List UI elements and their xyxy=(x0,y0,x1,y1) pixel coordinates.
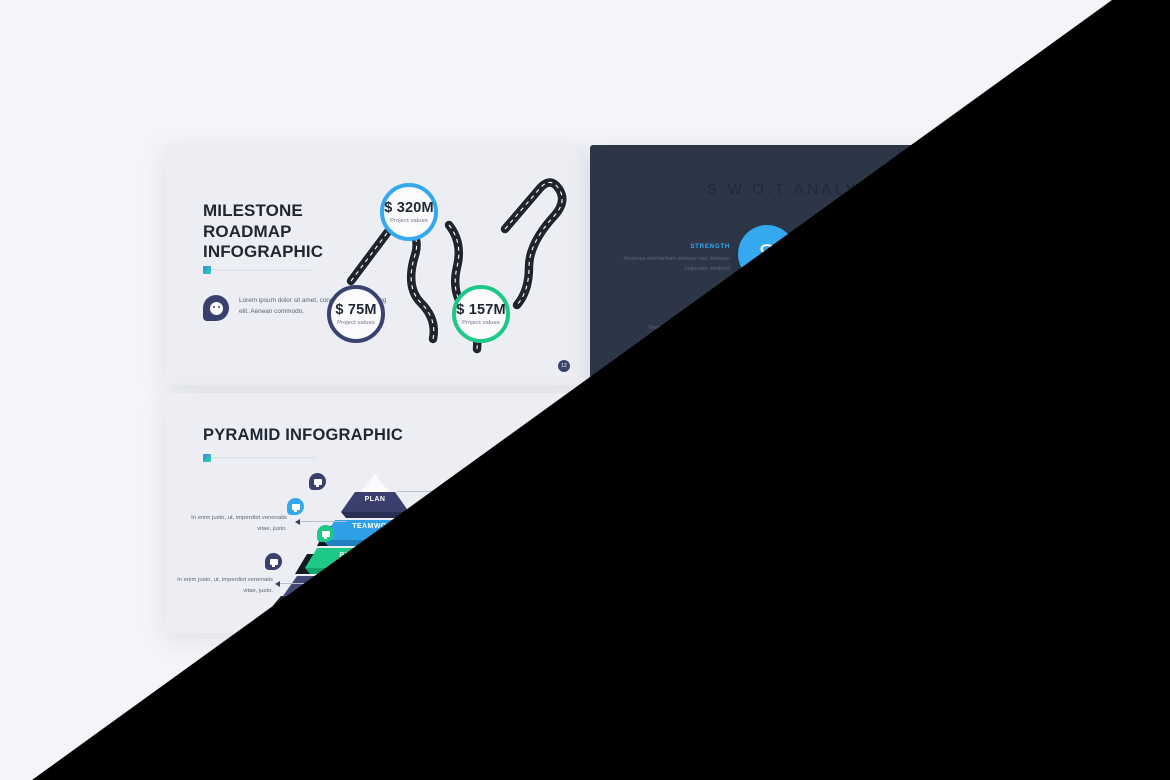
road-illustration xyxy=(754,411,1004,626)
milestone-bubble-320[interactable]: $ 320M Project values xyxy=(805,431,863,489)
swot-text: Vivamus elementum semper nisi. Aenean vu… xyxy=(618,254,730,274)
pyramid-note-teamwork: In enim justo, ut, imperdiet venenatis v… xyxy=(183,513,287,534)
screen-pin-icon xyxy=(265,553,282,570)
swot-label: OPPORTUNITIES xyxy=(835,312,947,319)
pyramid-note-business: In enim justo, ut, imperdiet venenatis v… xyxy=(467,545,571,566)
milestone-caption: Project values xyxy=(462,320,500,326)
screen-pin-icon xyxy=(287,498,304,515)
smiley-badge-icon xyxy=(628,543,654,569)
milestone-bubble-157[interactable]: $ 157M Project values xyxy=(877,533,935,591)
milestone-bubble-75[interactable]: $ 75M Project values xyxy=(327,285,385,343)
road-illustration xyxy=(329,163,579,378)
divider-knob-icon xyxy=(203,454,211,462)
roads-svg xyxy=(329,163,579,378)
milestone-caption: Project values xyxy=(762,568,800,574)
title-line-1: MILESTONE xyxy=(628,449,748,470)
pyramid-connector xyxy=(299,521,347,522)
milestone-bubble-320[interactable]: $ 320M Project values xyxy=(380,183,438,241)
diagonal-overlay xyxy=(0,0,1170,780)
smiley-badge-icon xyxy=(203,295,229,321)
screen-pin-icon xyxy=(309,473,326,490)
divider-knob-icon xyxy=(628,515,640,522)
swot-block-strength: STRENGTH Vivamus elementum semper nisi. … xyxy=(618,243,730,274)
pyramid-note-optimization: In enim justo, ut, imperdiet venenatis v… xyxy=(169,575,273,596)
slide-pyramid[interactable]: PYRAMID INFOGRAPHIC PL xyxy=(165,393,585,633)
roads-svg xyxy=(754,411,1004,626)
pyramid-tier-label-plan: PLAN xyxy=(315,496,435,503)
title-line-3: INFOGRAPHIC xyxy=(203,242,323,263)
milestone-amount: $ 157M xyxy=(881,550,931,566)
milestone-caption: Project values xyxy=(390,218,428,224)
swot-circle-threats[interactable]: T xyxy=(831,225,889,283)
swot-text: Vivamus elementum semper nisi. Aenean vu… xyxy=(643,323,755,343)
pyramid-connector xyxy=(279,583,325,584)
slide-milestone-dark[interactable]: MILESTONE ROADMAP INFOGRAPHIC Lorem ipsu… xyxy=(590,393,1010,633)
page-title: MILESTONE ROADMAP INFOGRAPHIC xyxy=(628,449,748,511)
page-number-badge: 12 xyxy=(558,360,570,372)
divider-knob-icon xyxy=(203,266,211,274)
swot-title: S.W.O.T ANALYSIS xyxy=(590,181,1010,198)
screen-pin-icon xyxy=(317,525,334,542)
milestone-amount: $ 75M xyxy=(760,550,801,566)
pyramid-note-plan: In enim justo, ut, imperdiet venenatis v… xyxy=(441,483,545,504)
title-divider xyxy=(203,457,315,459)
title-line-2: ROADMAP xyxy=(628,470,748,491)
slide-milestone-light[interactable]: MILESTONE ROADMAP INFOGRAPHIC Lorem ipsu… xyxy=(165,145,585,385)
swot-block-weakness: WEAKNESS Vivamus elementum semper nisi. … xyxy=(643,312,755,343)
swot-block-threats: THREATS Vivamus elementum semper nisi. A… xyxy=(896,243,1008,274)
swot-label: WEAKNESS xyxy=(643,312,755,319)
title-line-1: MILESTONE xyxy=(203,201,323,222)
page-number-badge: 10 xyxy=(558,608,570,620)
swot-text: Vivamus elementum semper nisi. Aenean vu… xyxy=(835,323,947,343)
milestone-amount: $ 320M xyxy=(384,200,434,216)
milestone-amount: $ 320M xyxy=(809,448,859,464)
milestone-caption: Project values xyxy=(887,568,925,574)
title-line-3: INFOGRAPHIC xyxy=(628,490,748,511)
pyramid-connector xyxy=(427,553,465,554)
swot-text: Vivamus elementum semper nisi. Aenean vu… xyxy=(896,254,1008,274)
milestone-amount: $ 157M xyxy=(456,302,506,318)
page-title: PYRAMID INFOGRAPHIC xyxy=(203,426,403,445)
title-divider xyxy=(203,269,313,271)
slide-swot[interactable]: S.W.O.T ANALYSIS S T W O STRENGTH Vivamu… xyxy=(590,145,1010,385)
milestone-amount: $ 75M xyxy=(335,302,376,318)
swot-circle-strength[interactable]: S xyxy=(738,225,796,283)
title-divider xyxy=(628,517,738,519)
page-number-badge: 11 xyxy=(983,608,995,620)
milestone-bubble-75[interactable]: $ 75M Project values xyxy=(752,533,810,591)
title-line-2: ROADMAP xyxy=(203,222,323,243)
swot-block-opportunities: OPPORTUNITIES Vivamus elementum semper n… xyxy=(835,312,947,343)
pyramid-tier-label-business-design: BUSINESS DESIGN xyxy=(315,552,435,559)
milestone-caption: Project values xyxy=(815,466,853,472)
milestone-bubble-157[interactable]: $ 157M Project values xyxy=(452,285,510,343)
swot-label: STRENGTH xyxy=(618,243,730,250)
page-title: MILESTONE ROADMAP INFOGRAPHIC xyxy=(203,201,323,263)
milestone-caption: Project values xyxy=(337,320,375,326)
pyramid-connector xyxy=(397,491,439,492)
